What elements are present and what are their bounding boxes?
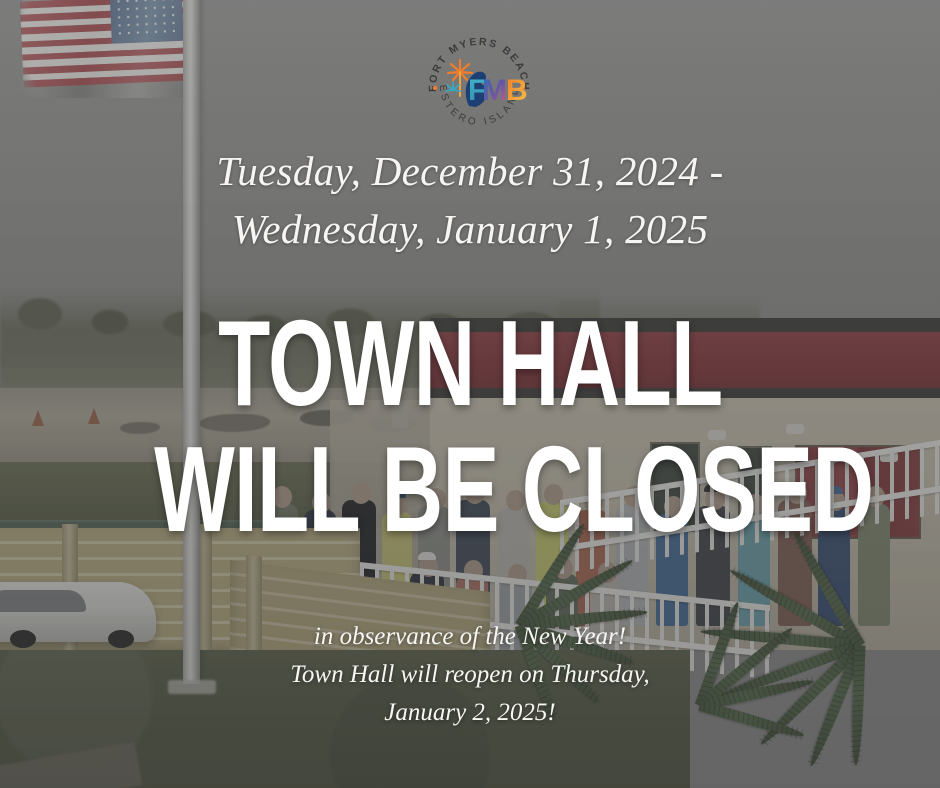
us-flag-group	[0, 0, 200, 110]
footer-line-3: January 2, 2025!	[0, 694, 940, 732]
headline-line-2: WILL BE CLOSED	[0, 428, 940, 550]
poster-canvas: FORT MYERS BEACH ESTERO ISLAND	[0, 0, 940, 788]
date-heading: Tuesday, December 31, 2024 - Wednesday, …	[0, 142, 940, 258]
logo-dot-left	[433, 86, 437, 90]
footer-line-1: in observance of the New Year!	[0, 618, 940, 656]
date-heading-line-1: Tuesday, December 31, 2024 -	[0, 142, 940, 200]
town-logo[interactable]: FORT MYERS BEACH ESTERO ISLAND	[424, 28, 534, 138]
footer-note: in observance of the New Year! Town Hall…	[0, 618, 940, 732]
date-heading-line-2: Wednesday, January 1, 2025	[0, 200, 940, 258]
headline-line-1: TOWN HALL	[0, 302, 940, 424]
footer-line-2: Town Hall will reopen on Thursday,	[0, 656, 940, 694]
logo-letter-m: M	[482, 74, 507, 107]
headline-line-2-text: WILL BE CLOSED	[154, 428, 873, 550]
logo-letter-b: B	[506, 74, 528, 107]
headline-line-1-text: TOWN HALL	[218, 302, 722, 424]
